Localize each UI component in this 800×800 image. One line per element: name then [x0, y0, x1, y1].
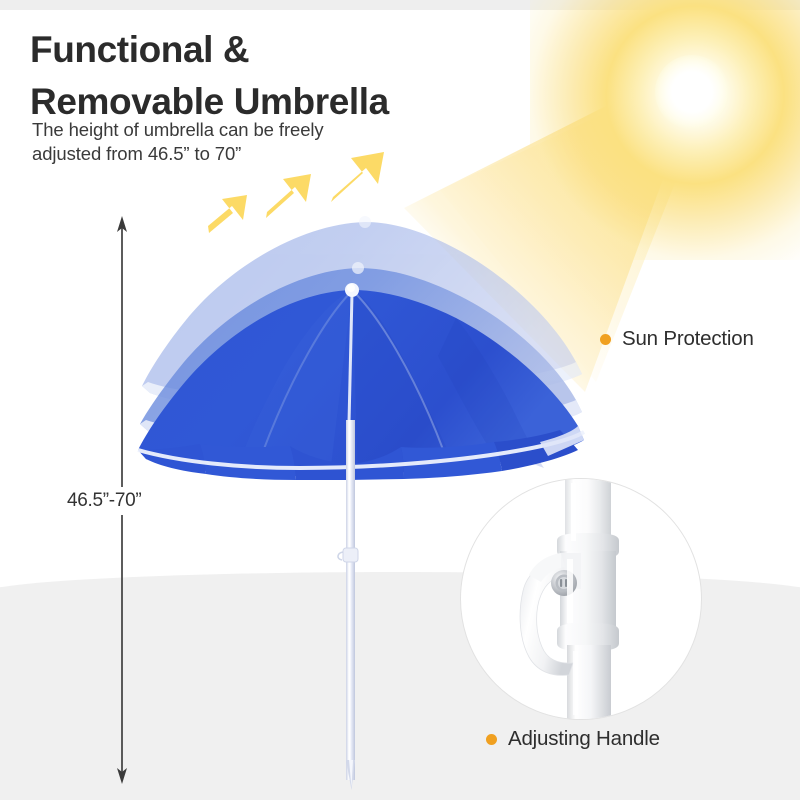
product-feature-graphic: Functional & Removable Umbrella The heig… — [0, 0, 800, 800]
umbrella-illustration — [0, 0, 800, 800]
